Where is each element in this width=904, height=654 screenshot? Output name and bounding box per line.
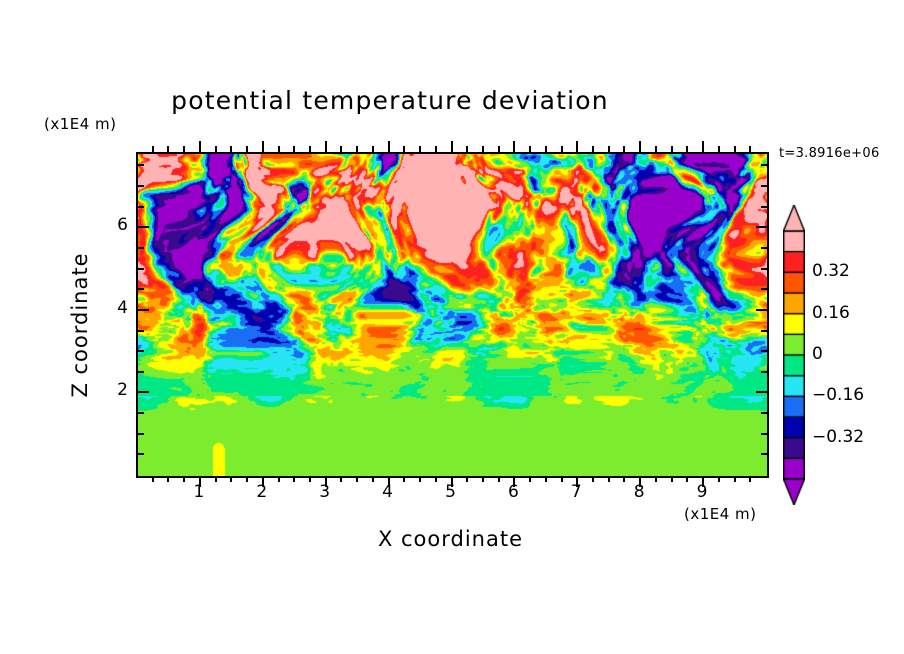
x-major-tick-top (388, 141, 390, 152)
x-minor-tick-top (246, 146, 248, 152)
x-minor-tick-top (623, 146, 625, 152)
x-major-tick-top (199, 141, 201, 152)
colorbar-gradient (783, 205, 805, 505)
x-minor-tick (749, 476, 751, 482)
y-minor-tick-right (761, 206, 767, 208)
x-minor-tick (482, 476, 484, 482)
x-minor-tick-top (498, 146, 500, 152)
x-minor-tick (152, 476, 154, 482)
x-minor-tick-top (718, 146, 720, 152)
x-minor-tick (230, 476, 232, 482)
x-tick-label: 2 (242, 482, 282, 502)
x-major-tick-top (513, 141, 515, 152)
x-major-tick-top (451, 141, 453, 152)
x-minor-tick-top (278, 146, 280, 152)
x-minor-tick-top (309, 146, 311, 152)
x-minor-tick (293, 476, 295, 482)
x-tick-label: 9 (682, 482, 722, 502)
x-minor-tick-top (372, 146, 374, 152)
y-axis-unit-label: (x1E4 m) (44, 115, 117, 133)
x-minor-tick-top (592, 146, 594, 152)
y-major-tick-right (756, 391, 767, 393)
x-major-tick-top (262, 141, 264, 152)
x-minor-tick-top (183, 146, 185, 152)
x-minor-tick-top (230, 146, 232, 152)
x-minor-tick-top (686, 146, 688, 152)
y-minor-tick (138, 433, 144, 435)
colorbar-tick-label: −0.16 (812, 385, 864, 405)
x-minor-tick (545, 476, 547, 482)
x-tick-label: 6 (493, 482, 533, 502)
y-minor-tick (138, 206, 144, 208)
x-minor-tick-top (152, 146, 154, 152)
colorbar-tick-label: 0.32 (812, 261, 850, 281)
x-minor-tick (419, 476, 421, 482)
x-minor-tick-top (356, 146, 358, 152)
y-major-tick (138, 226, 149, 228)
y-minor-tick (138, 453, 144, 455)
y-minor-tick (138, 330, 144, 332)
y-minor-tick-right (761, 371, 767, 373)
y-minor-tick-right (761, 268, 767, 270)
x-minor-tick (167, 476, 169, 482)
contour-field (138, 154, 767, 476)
x-minor-tick-top (466, 146, 468, 152)
y-minor-tick-right (761, 350, 767, 352)
contour-plot-area (136, 152, 769, 478)
x-axis-title: X coordinate (136, 527, 765, 551)
y-minor-tick-right (761, 185, 767, 187)
x-axis-unit-label: (x1E4 m) (684, 505, 757, 523)
y-minor-tick-right (761, 453, 767, 455)
y-minor-tick (138, 164, 144, 166)
x-minor-tick-top (749, 146, 751, 152)
y-minor-tick-right (761, 247, 767, 249)
y-minor-tick (138, 288, 144, 290)
time-annotation: t=3.8916e+06 (779, 146, 880, 161)
x-major-tick-top (639, 141, 641, 152)
x-minor-tick-top (608, 146, 610, 152)
y-minor-tick-right (761, 330, 767, 332)
y-major-tick-right (756, 309, 767, 311)
x-minor-tick (671, 476, 673, 482)
x-tick-label: 5 (431, 482, 471, 502)
x-minor-tick-top (215, 146, 217, 152)
x-minor-tick-top (671, 146, 673, 152)
colorbar-tick-label: 0 (812, 344, 823, 364)
y-minor-tick (138, 412, 144, 414)
y-major-tick (138, 391, 149, 393)
colorbar-tick-label: 0.16 (812, 303, 850, 323)
y-minor-tick-right (761, 164, 767, 166)
x-minor-tick-top (435, 146, 437, 152)
x-tick-label: 3 (305, 482, 345, 502)
x-minor-tick-top (529, 146, 531, 152)
x-tick-label: 4 (368, 482, 408, 502)
x-minor-tick (608, 476, 610, 482)
y-tick-label: 6 (98, 215, 128, 235)
y-minor-tick (138, 185, 144, 187)
x-minor-tick-top (545, 146, 547, 152)
x-minor-tick (734, 476, 736, 482)
x-minor-tick-top (655, 146, 657, 152)
y-minor-tick-right (761, 288, 767, 290)
x-major-tick-top (702, 141, 704, 152)
colorbar-tick-label: −0.32 (812, 427, 864, 447)
y-minor-tick-right (761, 412, 767, 414)
x-tick-label: 1 (179, 482, 219, 502)
colorbar (783, 205, 805, 505)
x-minor-tick-top (403, 146, 405, 152)
x-minor-tick-top (340, 146, 342, 152)
y-minor-tick-right (761, 433, 767, 435)
y-major-tick (138, 309, 149, 311)
x-minor-tick-top (419, 146, 421, 152)
x-minor-tick-top (293, 146, 295, 152)
x-minor-tick-top (734, 146, 736, 152)
y-tick-label: 4 (98, 298, 128, 318)
x-minor-tick-top (561, 146, 563, 152)
y-minor-tick (138, 371, 144, 373)
y-minor-tick (138, 268, 144, 270)
y-minor-tick (138, 350, 144, 352)
x-major-tick-top (576, 141, 578, 152)
y-major-tick-right (756, 226, 767, 228)
x-major-tick-top (325, 141, 327, 152)
page-title: potential temperature deviation (0, 86, 780, 115)
x-tick-label: 7 (556, 482, 596, 502)
y-tick-label: 2 (98, 380, 128, 400)
x-minor-tick-top (482, 146, 484, 152)
x-tick-label: 8 (619, 482, 659, 502)
y-minor-tick (138, 247, 144, 249)
x-minor-tick (356, 476, 358, 482)
y-axis-title: Z coordinate (68, 205, 92, 445)
x-minor-tick-top (167, 146, 169, 152)
